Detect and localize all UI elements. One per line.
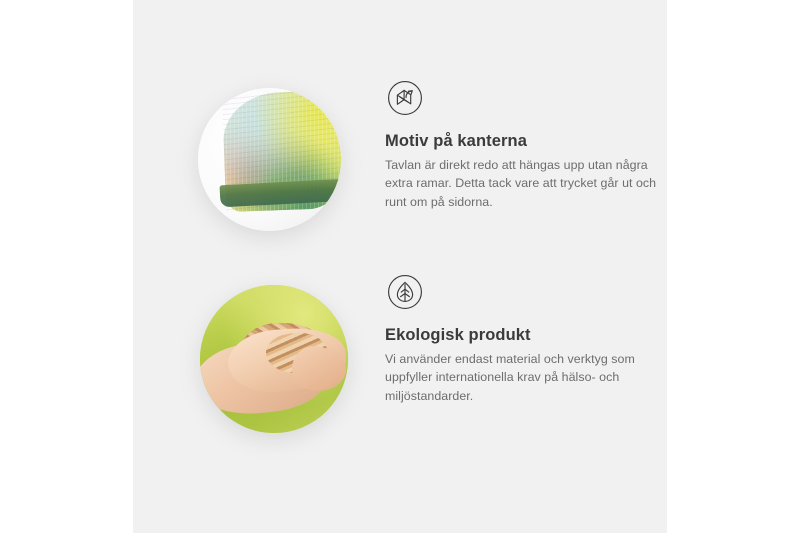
feature-text-edges: Motiv på kanterna Tavlan är direkt redo …	[385, 78, 663, 212]
feature-block-eco: Ekologisk produkt Vi använder endast mat…	[133, 272, 667, 447]
canvas-wrapped-edge-icon	[385, 78, 425, 118]
feature-title-edges: Motiv på kanterna	[385, 131, 663, 152]
feature-description-eco: Vi använder endast material och verktyg …	[385, 350, 663, 407]
product-feature-panel: Motiv på kanterna Tavlan är direkt redo …	[0, 0, 800, 533]
content-panel: Motiv på kanterna Tavlan är direkt redo …	[133, 0, 667, 533]
leaf-icon	[385, 272, 425, 312]
feature-title-eco: Ekologisk produkt	[385, 325, 663, 346]
canvas-corner-photo	[198, 88, 341, 231]
wood-chips-in-hands-photo	[200, 285, 348, 433]
feature-text-eco: Ekologisk produkt Vi använder endast mat…	[385, 272, 663, 406]
feature-block-edges: Motiv på kanterna Tavlan är direkt redo …	[133, 78, 667, 253]
feature-description-edges: Tavlan är direkt redo att hängas upp uta…	[385, 156, 663, 213]
